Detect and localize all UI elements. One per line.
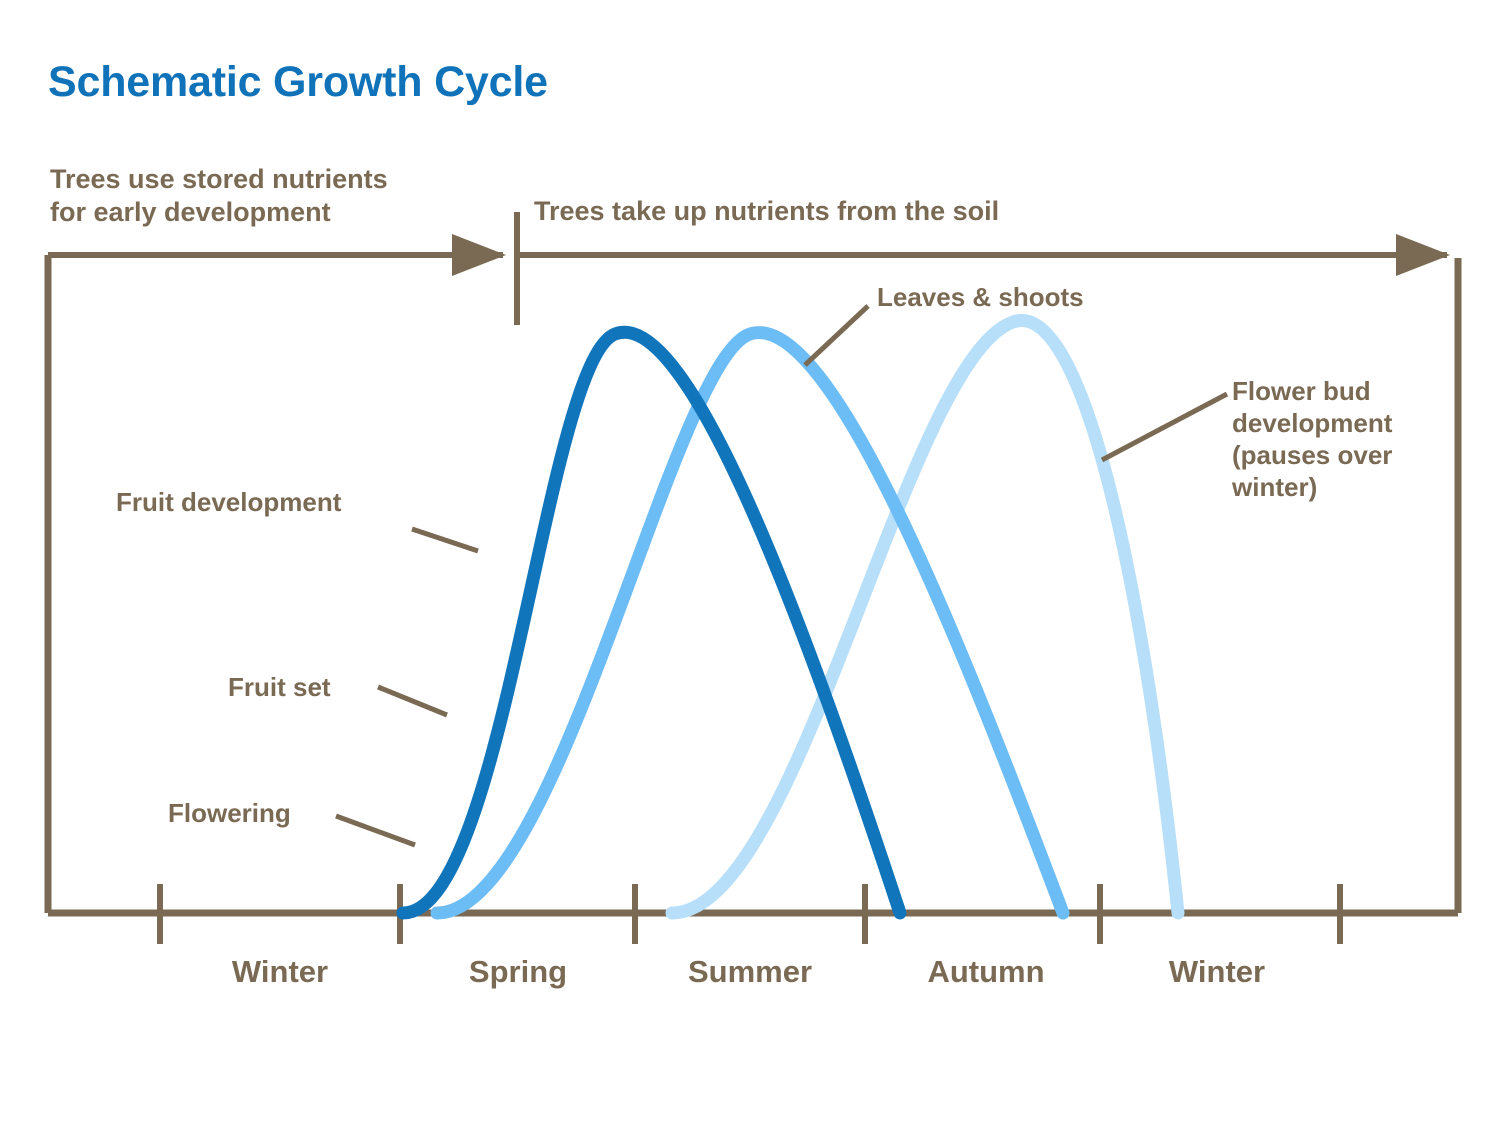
annotation-stored-nutrients: Trees use stored nutrients for early dev… bbox=[50, 163, 388, 229]
axis-label-winter-1: Winter bbox=[160, 954, 400, 990]
axis-label-autumn: Autumn bbox=[866, 954, 1106, 990]
curve-flowering-fruit bbox=[403, 332, 900, 913]
label-leaves-shoots: Leaves & shoots bbox=[877, 282, 1084, 312]
label-fruit-set: Fruit set bbox=[228, 672, 331, 702]
axis-label-spring: Spring bbox=[398, 954, 638, 990]
leader-line-fruit-set bbox=[378, 687, 447, 715]
leader-line-flower-bud bbox=[1102, 394, 1227, 460]
curve-flower-bud-development bbox=[672, 321, 1178, 913]
label-flowering: Flowering bbox=[168, 798, 291, 828]
label-flower-bud-development: Flower bud development (pauses over wint… bbox=[1232, 376, 1392, 504]
annotation-soil-uptake: Trees take up nutrients from the soil bbox=[534, 196, 999, 227]
leader-line-flowering bbox=[336, 816, 415, 845]
label-fruit-development: Fruit development bbox=[116, 487, 341, 517]
schematic-growth-cycle-diagram: Schematic Growth Cycle bbox=[0, 0, 1504, 1129]
leader-line-fruit-development bbox=[412, 529, 478, 551]
curve-leaves-shoots bbox=[437, 333, 1063, 913]
leader-line-leaves-shoots bbox=[805, 306, 868, 365]
axis-label-winter-2: Winter bbox=[1097, 954, 1337, 990]
axis-label-summer: Summer bbox=[630, 954, 870, 990]
